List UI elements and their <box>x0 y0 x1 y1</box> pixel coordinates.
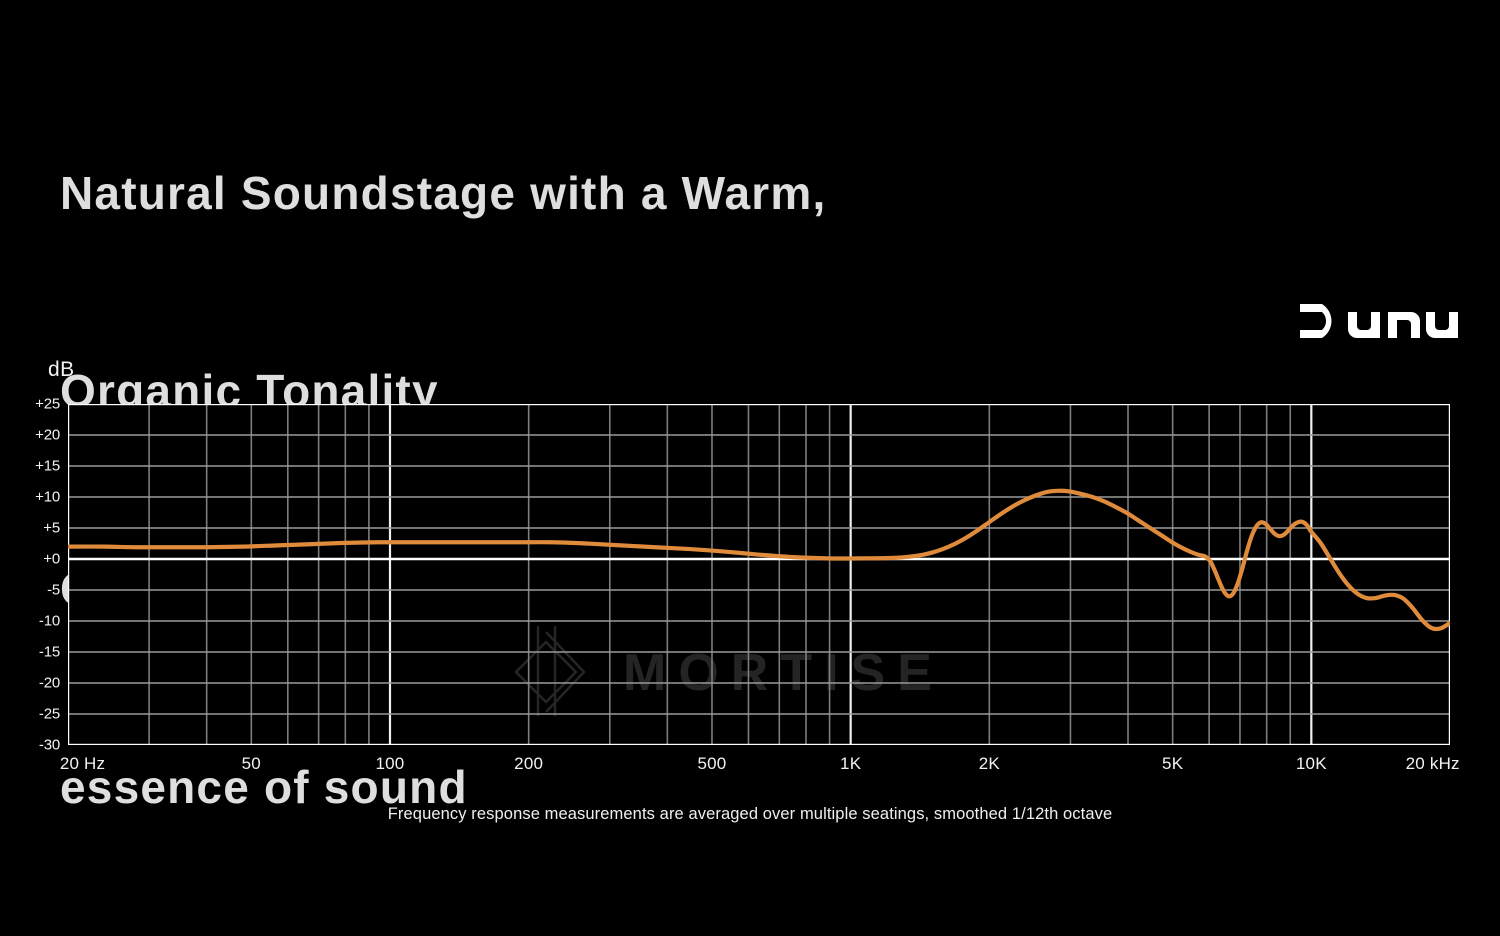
x-tick-500: 500 <box>698 754 727 774</box>
frequency-response-infographic: { "headline": { "line1": "Natural Sounds… <box>0 0 1500 936</box>
x-tick-200: 200 <box>514 754 543 774</box>
y-tick--20: -20 <box>18 675 60 692</box>
y-tick-+5: +5 <box>18 520 60 537</box>
plot-area: MORTISE <box>68 404 1450 745</box>
y-axis-title: dB <box>48 358 75 382</box>
x-tick-20kHz: 20 kHz <box>1406 754 1460 774</box>
x-tick-100: 100 <box>376 754 405 774</box>
y-tick-+10: +10 <box>18 489 60 506</box>
y-tick-+15: +15 <box>18 458 60 475</box>
dunu-brand-logo <box>1298 300 1458 342</box>
x-tick-10K: 10K <box>1296 754 1327 774</box>
x-tick-5K: 5K <box>1162 754 1183 774</box>
y-tick--15: -15 <box>18 644 60 661</box>
x-tick-2K: 2K <box>979 754 1000 774</box>
y-tick-+20: +20 <box>18 427 60 444</box>
chart-footnote: Frequency response measurements are aver… <box>0 805 1500 824</box>
headline-line-1: Natural Soundstage with a Warm, <box>60 160 1290 226</box>
x-tick-1K: 1K <box>840 754 861 774</box>
y-tick--5: -5 <box>18 582 60 599</box>
frequency-response-chart: dB MORTISE <box>0 352 1500 852</box>
x-tick-20Hz: 20 Hz <box>60 754 105 774</box>
y-tick-+0: +0 <box>18 551 60 568</box>
y-tick--25: -25 <box>18 706 60 723</box>
dunu-wordmark-icon <box>1298 300 1458 342</box>
x-tick-50: 50 <box>242 754 261 774</box>
y-tick--10: -10 <box>18 613 60 630</box>
plot-svg: MORTISE <box>68 404 1450 745</box>
y-tick-+25: +25 <box>18 396 60 413</box>
y-tick--30: -30 <box>18 737 60 754</box>
